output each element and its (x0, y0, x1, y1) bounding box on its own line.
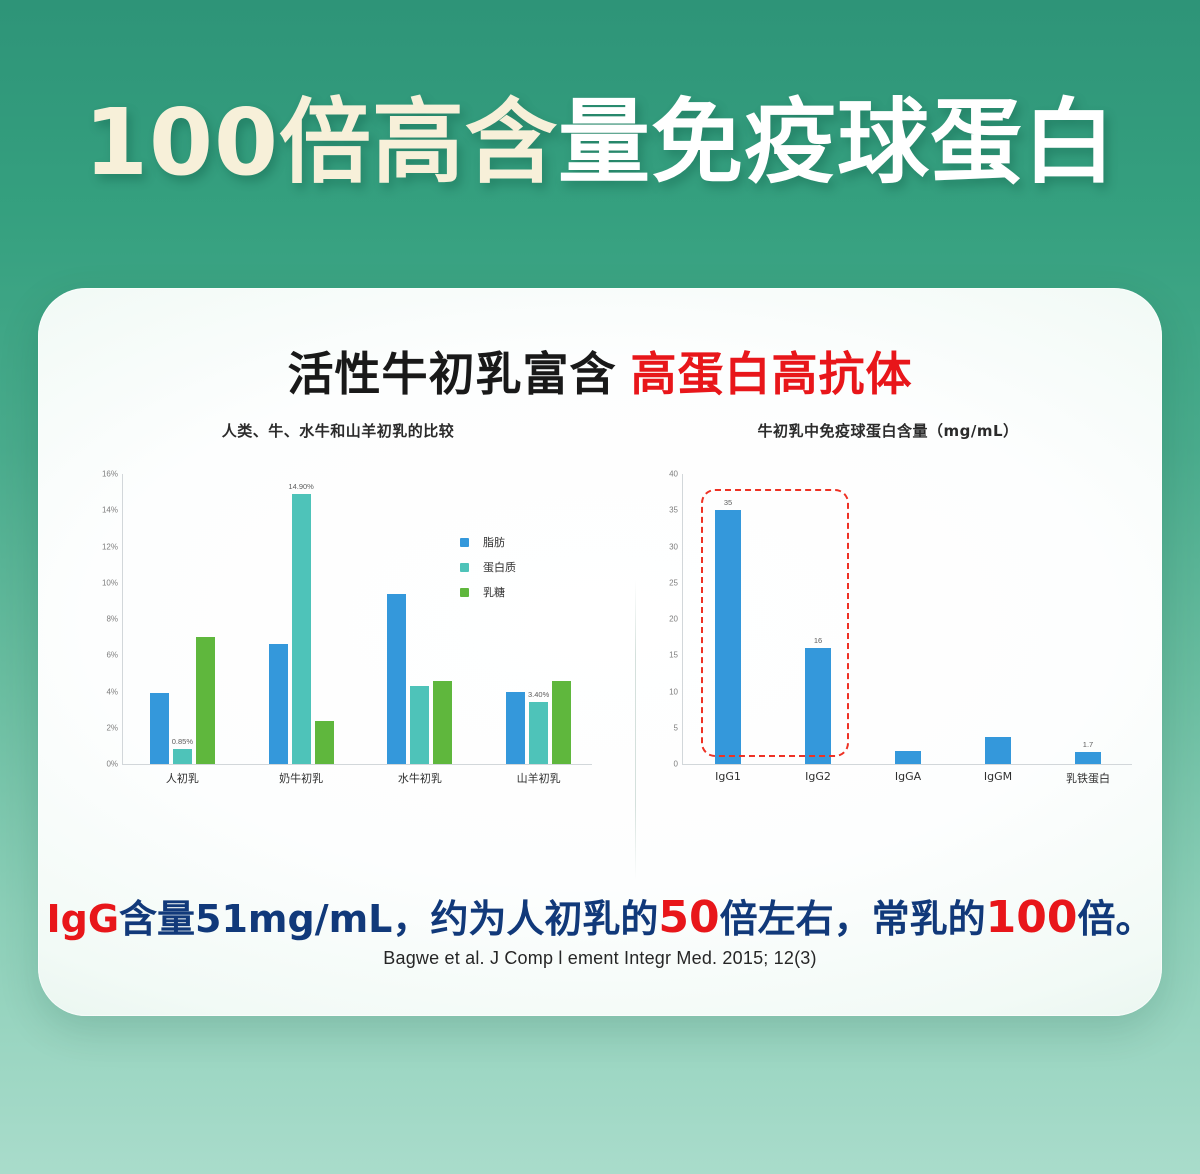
bar-value-label: 0.85% (172, 737, 193, 746)
content-card: 活性牛初乳富含高蛋白高抗体 人类、牛、水牛和山羊初乳的比较 0%2%4%6%8%… (38, 288, 1162, 1016)
bar (506, 692, 525, 765)
legend-label: 脂肪 (483, 534, 505, 550)
x-axis-tick: 人初乳 (166, 770, 199, 786)
y-axis-tick: 4% (78, 687, 118, 696)
bar: 1.7 (1075, 752, 1101, 764)
x-axis-tick: IgG2 (805, 770, 831, 783)
x-axis-tick: 奶牛初乳 (279, 770, 323, 786)
legend-swatch-icon (460, 563, 469, 572)
statement-text-3: 倍。 (1078, 897, 1154, 941)
y-axis-tick: 14% (78, 506, 118, 515)
bar-value-label: 35 (724, 498, 732, 507)
chart-right-plot: 0510152025303540 35161.7 IgG1IgG2IgGAIgG… (638, 468, 1138, 808)
y-axis-tick: 12% (78, 542, 118, 551)
bar (552, 681, 571, 764)
bar (315, 721, 334, 764)
hero-title-part1: 100倍高含 (84, 89, 558, 196)
y-axis-tick: 6% (78, 651, 118, 660)
bar (150, 693, 169, 764)
card-heading-red: 高蛋白高抗体 (631, 347, 913, 401)
chart-left-legend: 脂肪蛋白质乳糖 (460, 534, 516, 609)
bar (269, 644, 288, 764)
chart-left-bars: 0.85%14.90%3.40% (123, 474, 592, 764)
chart-left-title: 人类、牛、水牛和山羊初乳的比较 (78, 420, 598, 441)
y-axis-tick: 8% (78, 615, 118, 624)
bar (410, 686, 429, 764)
chart-milk-composition: 人类、牛、水牛和山羊初乳的比较 0%2%4%6%8%10%12%14%16% 0… (78, 420, 598, 840)
bar-value-label: 1.7 (1083, 740, 1093, 749)
y-axis-tick: 30 (638, 542, 678, 551)
y-axis-tick: 0 (638, 760, 678, 769)
x-axis-tick: 山羊初乳 (517, 770, 561, 786)
y-axis-tick: 10% (78, 578, 118, 587)
citation-text: Bagwe et al. J Comp l ement Integr Med. … (38, 948, 1162, 969)
charts-region: 人类、牛、水牛和山羊初乳的比较 0%2%4%6%8%10%12%14%16% 0… (38, 420, 1162, 840)
x-axis-tick: 水牛初乳 (398, 770, 442, 786)
legend-item: 蛋白质 (460, 559, 516, 575)
y-axis-tick: 25 (638, 578, 678, 587)
bar-group: 0.85% (123, 474, 242, 764)
legend-swatch-icon (460, 588, 469, 597)
statement-number-50: 50 (658, 892, 719, 943)
chart-colostrum-immunoglobulin: 牛初乳中免疫球蛋白含量（mg/mL） 0510152025303540 3516… (638, 420, 1138, 840)
bar-value-label: 16 (814, 636, 822, 645)
chart-left-x-axis (122, 764, 592, 765)
statement-text-2: 倍左右，常乳的 (720, 897, 986, 941)
legend-label: 乳糖 (483, 584, 505, 600)
bar-group: 14.90% (242, 474, 361, 764)
key-statement: IgG含量51mg/mL，约为人初乳的50倍左右，常乳的100倍。 (38, 888, 1162, 943)
x-axis-tick: IgGA (895, 770, 921, 783)
chart-left-plot: 0%2%4%6%8%10%12%14%16% 0.85%14.90%3.40% … (78, 468, 598, 808)
y-axis-tick: 20 (638, 615, 678, 624)
x-axis-tick: IgG1 (715, 770, 741, 783)
y-axis-tick: 16% (78, 470, 118, 479)
bar: 0.85% (173, 749, 192, 764)
bar: 16 (805, 648, 831, 764)
page-title: 100倍高含量免疫球蛋白 (84, 68, 1116, 201)
x-axis-tick: 乳铁蛋白 (1066, 770, 1110, 786)
legend-item: 乳糖 (460, 584, 516, 600)
bar-group (361, 474, 480, 764)
bar (985, 737, 1011, 764)
chart-right-x-axis (682, 764, 1132, 765)
chart-divider (635, 580, 636, 880)
legend-label: 蛋白质 (483, 559, 516, 575)
legend-swatch-icon (460, 538, 469, 547)
y-axis-tick: 35 (638, 506, 678, 515)
y-axis-tick: 5 (638, 723, 678, 732)
bar (433, 681, 452, 764)
x-axis-tick: IgGM (984, 770, 1012, 783)
legend-item: 脂肪 (460, 534, 516, 550)
bar-value-label: 14.90% (288, 482, 313, 491)
bar-group: 3.40% (479, 474, 598, 764)
y-axis-tick: 10 (638, 687, 678, 696)
hero-title-part2: 量免疫球蛋白 (558, 89, 1116, 196)
y-axis-tick: 0% (78, 760, 118, 769)
card-heading: 活性牛初乳富含高蛋白高抗体 (38, 338, 1162, 404)
card-heading-dark: 活性牛初乳富含 (288, 347, 617, 401)
chart-right-title: 牛初乳中免疫球蛋白含量（mg/mL） (638, 420, 1138, 441)
y-axis-tick: 2% (78, 723, 118, 732)
statement-text-1: 含量51mg/mL，约为人初乳的 (119, 897, 658, 941)
hero-banner: 100倍高含量免疫球蛋白 (0, 0, 1200, 268)
y-axis-tick: 15 (638, 651, 678, 660)
bar (895, 751, 921, 764)
bar (387, 594, 406, 764)
chart-right-bars: 35161.7 (683, 474, 1132, 764)
y-axis-tick: 40 (638, 470, 678, 479)
statement-igg: IgG (46, 897, 119, 941)
bar: 35 (715, 510, 741, 764)
bar: 3.40% (529, 702, 548, 764)
bar-value-label: 3.40% (528, 690, 549, 699)
bar: 14.90% (292, 494, 311, 764)
bar (196, 637, 215, 764)
statement-number-100: 100 (986, 892, 1078, 943)
